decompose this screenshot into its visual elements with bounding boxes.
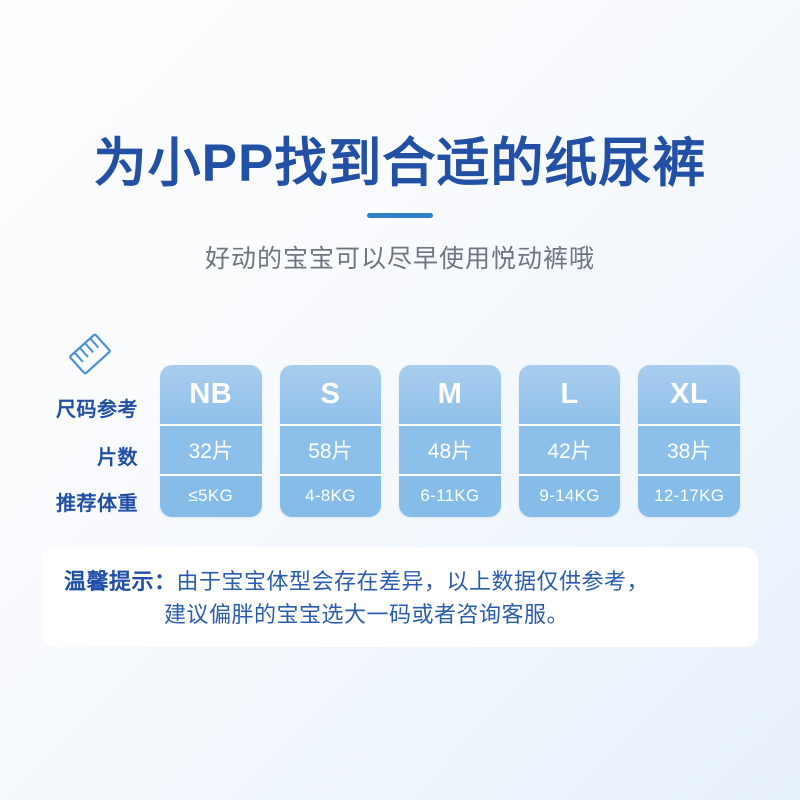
tip-label: 温馨提示： [64, 569, 177, 594]
size-card-m[interactable]: M 48片 6-11KG [399, 365, 501, 517]
tip-box: 温馨提示：由于宝宝体型会存在差异，以上数据仅供参考， 建议偏胖的宝宝选大一码或者… [42, 547, 758, 647]
row-label-size: 尺码参考 [0, 393, 138, 422]
weight-value: ≤5KG [160, 476, 262, 517]
tip-line-2: 建议偏胖的宝宝选大一码或者咨询客服。 [164, 602, 569, 627]
title-underline [367, 213, 433, 218]
size-card-nb[interactable]: NB 32片 ≤5KG [160, 365, 262, 517]
count-value: 42片 [519, 426, 621, 475]
size-card-l[interactable]: L 42片 9-14KG [519, 365, 621, 517]
weight-value: 6-11KG [399, 476, 501, 517]
size-label: NB [160, 365, 262, 426]
header: 为小PP找到合适的纸尿裤 好动的宝宝可以尽早使用悦动裤哦 [0, 132, 800, 276]
size-card-s[interactable]: S 58片 4-8KG [280, 365, 382, 517]
count-value: 38片 [638, 426, 740, 475]
row-label-weight: 推荐体重 [0, 487, 138, 516]
tip-body: 温馨提示：由于宝宝体型会存在差异，以上数据仅供参考， 建议偏胖的宝宝选大一码或者… [64, 565, 736, 631]
row-label-column: 尺码参考 片数 推荐体重 [0, 365, 138, 517]
weight-value: 4-8KG [280, 476, 382, 517]
size-card-list: NB 32片 ≤5KG S 58片 4-8KG M 48片 6-11KG L 4… [160, 365, 740, 517]
size-guide-page: 为小PP找到合适的纸尿裤 好动的宝宝可以尽早使用悦动裤哦 尺码参考 片数 推荐体… [0, 0, 800, 800]
page-subtitle: 好动的宝宝可以尽早使用悦动裤哦 [0, 242, 800, 276]
size-label: L [519, 365, 621, 426]
size-card-xl[interactable]: XL 38片 12-17KG [638, 365, 740, 517]
count-value: 58片 [280, 426, 382, 475]
weight-value: 12-17KG [638, 476, 740, 517]
weight-value: 9-14KG [519, 476, 621, 517]
size-table: 尺码参考 片数 推荐体重 NB 32片 ≤5KG S 58片 4-8KG M 4… [0, 365, 800, 517]
size-label: S [280, 365, 382, 426]
tip-line-1: 由于宝宝体型会存在差异，以上数据仅供参考， [177, 569, 650, 594]
size-label: M [399, 365, 501, 426]
count-value: 32片 [160, 426, 262, 475]
row-label-count: 片数 [0, 441, 138, 470]
count-value: 48片 [399, 426, 501, 475]
size-label: XL [638, 365, 740, 426]
page-title: 为小PP找到合适的纸尿裤 [0, 132, 800, 196]
